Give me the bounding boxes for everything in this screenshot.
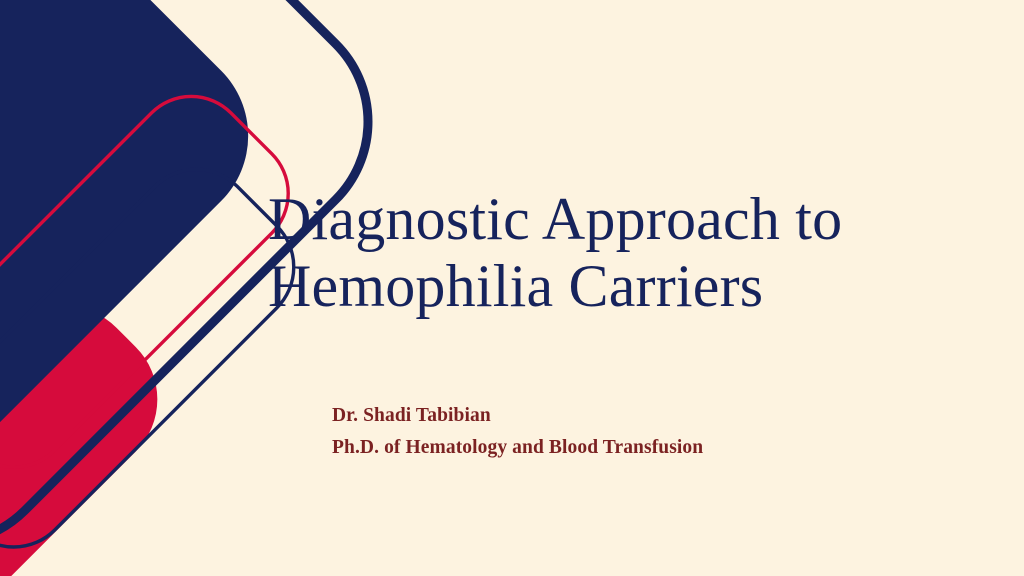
title-slide: Diagnostic Approach to Hemophilia Carrie… <box>0 0 1024 576</box>
crimson-filled-rounded-rect <box>0 276 188 576</box>
crimson-thin-outline-rounded-rect <box>0 73 311 490</box>
navy-filled-rounded-rect <box>0 0 286 532</box>
presenter-credentials: Ph.D. of Hematology and Blood Transfusio… <box>332 432 952 464</box>
title-block: Diagnostic Approach to Hemophilia Carrie… <box>268 186 968 320</box>
presenter-name: Dr. Shadi Tabibian <box>332 400 952 432</box>
presenter-block: Dr. Shadi Tabibian Ph.D. of Hematology a… <box>332 400 952 463</box>
slide-title: Diagnostic Approach to Hemophilia Carrie… <box>268 186 968 320</box>
